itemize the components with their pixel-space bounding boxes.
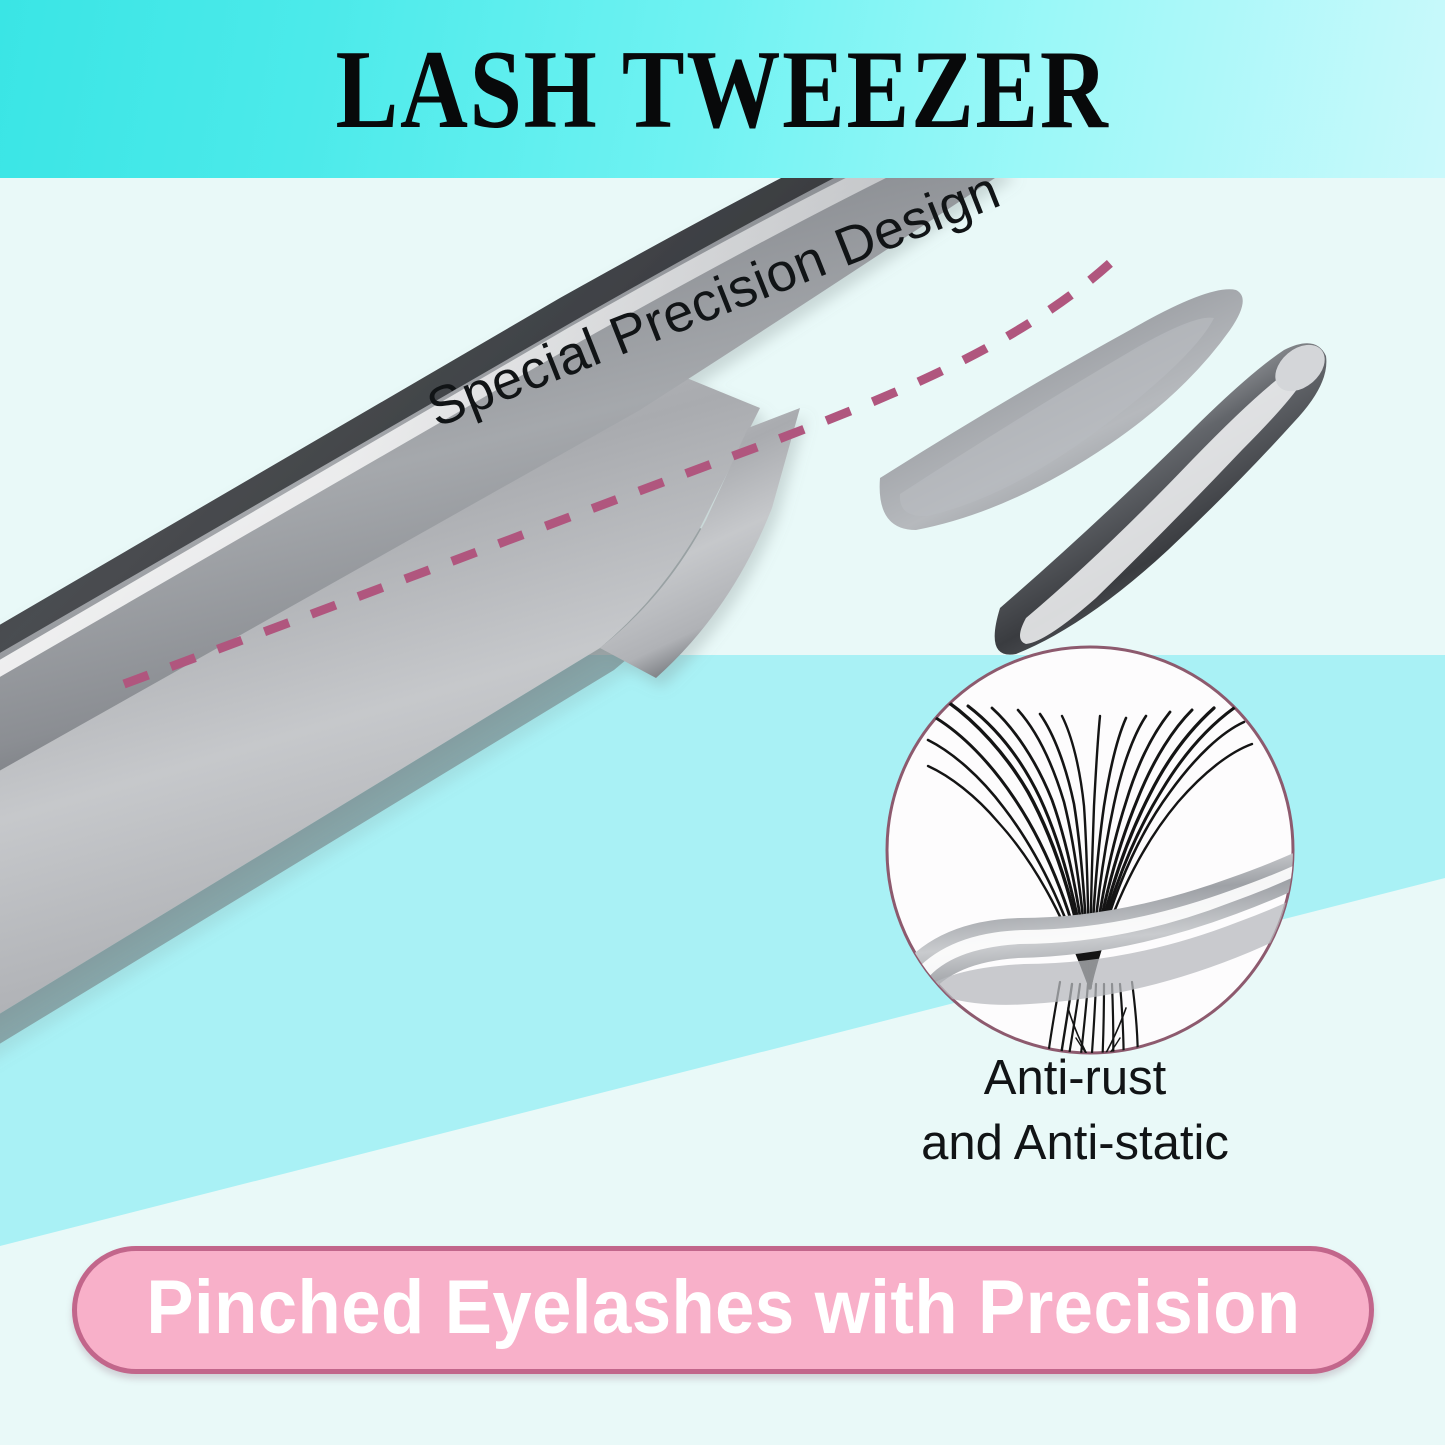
- anti-rust-caption: Anti-rust and Anti-static: [820, 1046, 1330, 1175]
- tagline-text: Pinched Eyelashes with Precision: [146, 1270, 1300, 1350]
- caption-line-2: and Anti-static: [820, 1111, 1330, 1176]
- caption-line-1: Anti-rust: [820, 1046, 1330, 1111]
- product-marketing-poster: LASH TWEEZER: [0, 0, 1445, 1445]
- page-title: LASH TWEEZER: [116, 0, 1330, 186]
- tagline-banner: Pinched Eyelashes with Precision: [72, 1246, 1374, 1374]
